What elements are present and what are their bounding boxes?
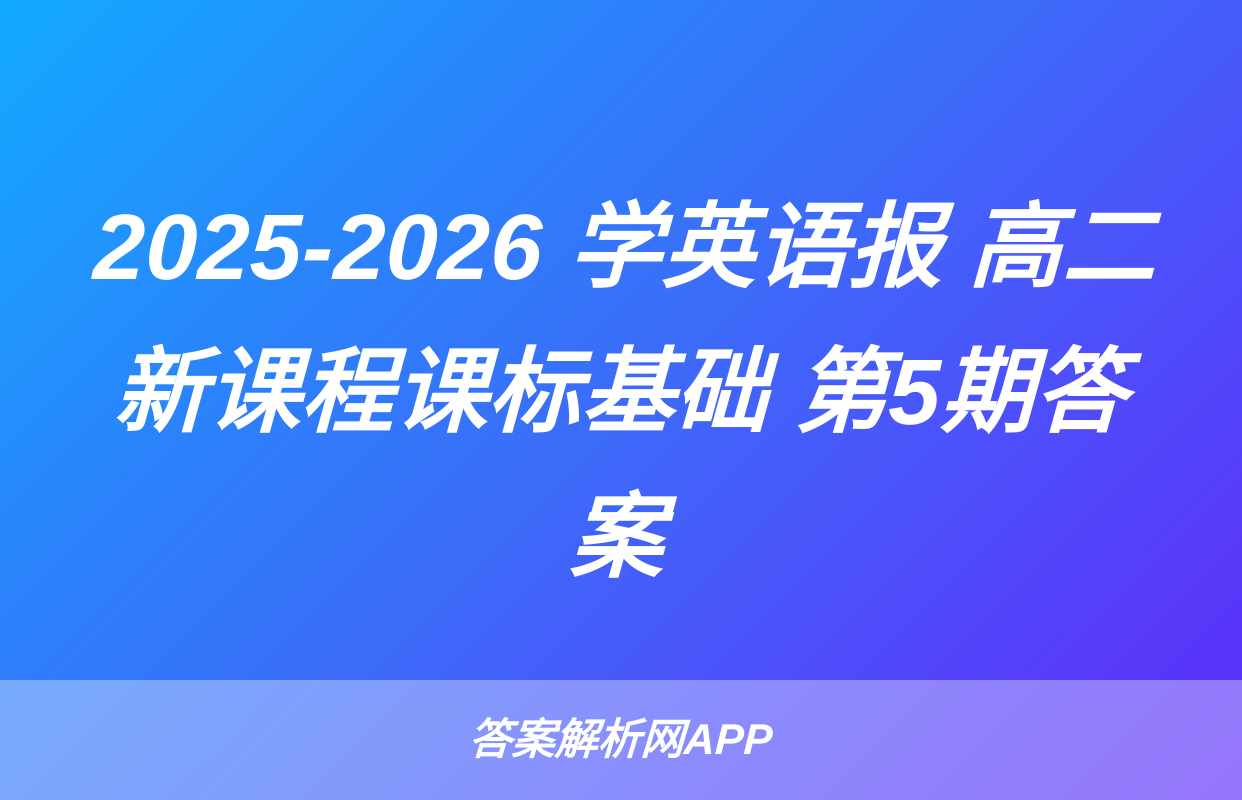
footer-watermark-band: 答案解析网APP (0, 680, 1242, 800)
app-brand-label: 答案解析网APP (468, 719, 774, 762)
page-title: 2025-2026 学英语报 高二 新课程课标基础 第5期答案 (64, 175, 1177, 610)
headline-container: 2025-2026 学英语报 高二 新课程课标基础 第5期答案 (0, 172, 1242, 612)
poster-canvas: 2025-2026 学英语报 高二 新课程课标基础 第5期答案 答案解析网APP (0, 0, 1242, 800)
